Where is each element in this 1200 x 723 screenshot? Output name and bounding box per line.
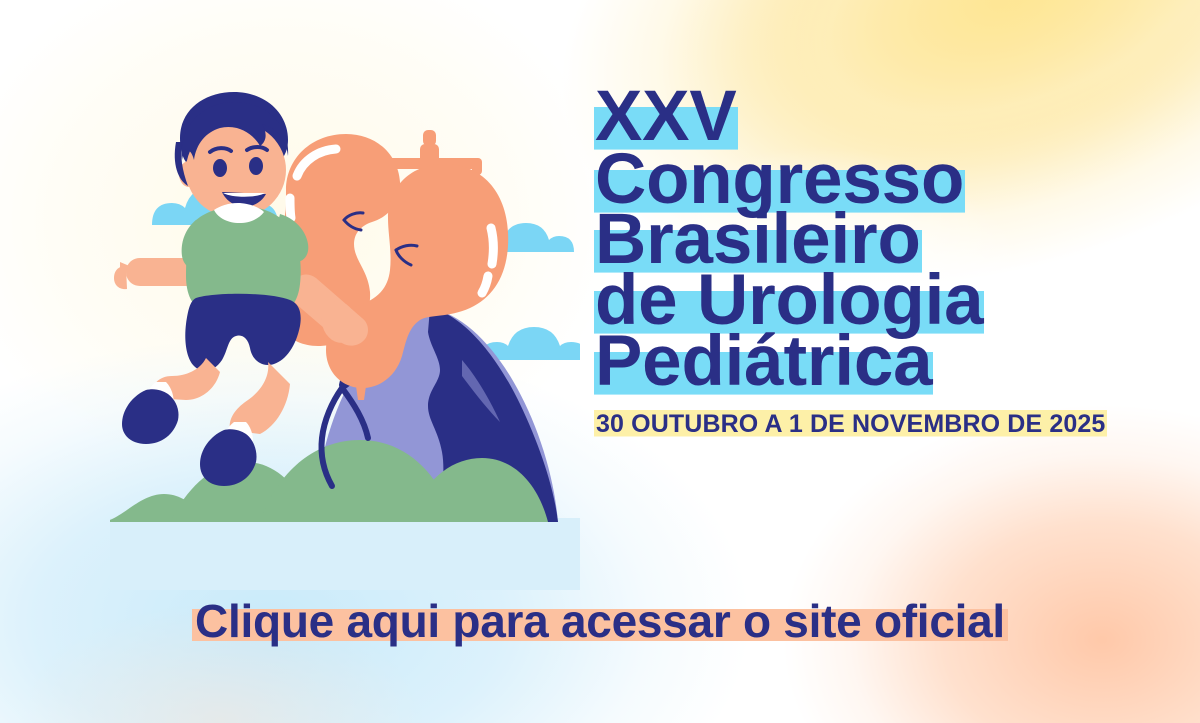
- hero-illustration: [110, 70, 580, 590]
- cta-row: Clique aqui para acessar o site oficial: [0, 594, 1200, 648]
- water-band: [110, 518, 580, 590]
- title-line-5: Pediátrica: [594, 329, 1154, 396]
- event-dates: 30 OUTUBRO A 1 DE NOVEMBRO DE 2025: [594, 412, 1154, 437]
- title-block: XXV Congresso Brasileiro de Urologia Ped…: [594, 84, 1154, 437]
- official-site-link[interactable]: Clique aqui para acessar o site oficial: [192, 595, 1008, 647]
- congress-banner: XXV Congresso Brasileiro de Urologia Ped…: [0, 0, 1200, 723]
